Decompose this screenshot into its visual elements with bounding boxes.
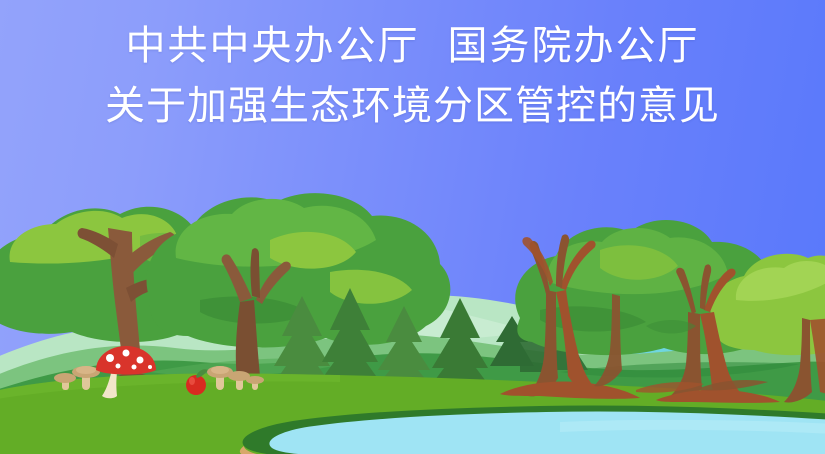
policy-banner: 中共中央办公厅国务院办公厅 关于加强生态环境分区管控的意见 xyxy=(0,0,825,454)
forest-landscape-illustration xyxy=(0,0,825,454)
